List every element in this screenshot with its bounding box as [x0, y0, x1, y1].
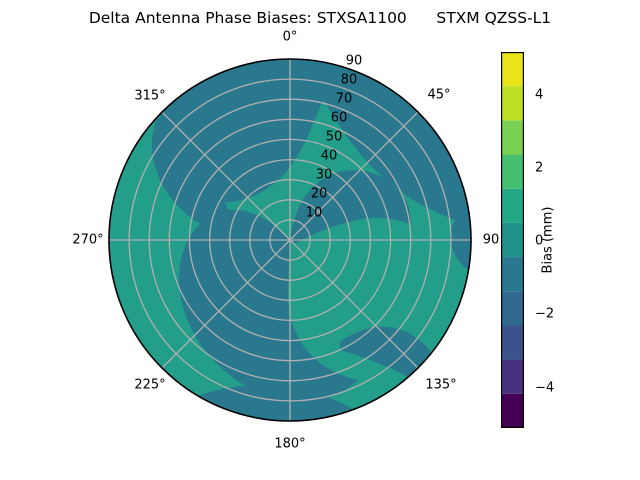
colorbar-band-4 — [501, 257, 524, 291]
colorbar-band-9 — [501, 86, 524, 120]
polar-plot-svg — [108, 58, 472, 422]
colorbar-tick-label-2: 2 — [535, 162, 543, 175]
page-title: Delta Antenna Phase Biases: STXSA1100 ST… — [0, 9, 640, 27]
r-tick-90: 90 — [346, 55, 363, 68]
theta-tick-315: 315° — [134, 90, 165, 103]
colorbar-band-10 — [501, 52, 524, 86]
theta-tick-90: 90 — [483, 234, 500, 247]
polar-chart-figure: Delta Antenna Phase Biases: STXSA1100 ST… — [0, 0, 640, 480]
colorbar-bands — [501, 52, 524, 428]
polar-grid-spokes — [109, 59, 471, 421]
colorbar-axis-label: Bias (mm) — [541, 207, 556, 274]
colorbar-band-5 — [501, 223, 524, 257]
colorbar[interactable] — [501, 52, 524, 428]
colorbar-band-1 — [501, 360, 524, 394]
r-tick-60: 60 — [331, 112, 348, 125]
theta-tick-270: 270° — [72, 234, 103, 247]
theta-tick-0: 0° — [283, 31, 298, 44]
colorbar-band-7 — [501, 155, 524, 189]
r-tick-80: 80 — [341, 74, 358, 87]
r-tick-30: 30 — [316, 169, 333, 182]
colorbar-tick-label-minus2: −2 — [535, 308, 554, 321]
colorbar-band-0 — [501, 394, 524, 428]
colorbar-band-6 — [501, 189, 524, 223]
colorbar-tick-label-4: 4 — [535, 89, 543, 102]
r-tick-20: 20 — [311, 188, 328, 201]
r-tick-10: 10 — [306, 207, 323, 220]
colorbar-svg — [501, 52, 524, 428]
theta-tick-180: 180° — [274, 438, 305, 451]
colorbar-tick-label-minus4: −4 — [535, 382, 554, 395]
theta-tick-135: 135° — [425, 379, 456, 392]
polar-axes[interactable] — [108, 58, 472, 422]
r-tick-40: 40 — [321, 150, 338, 163]
theta-tick-45: 45° — [427, 89, 450, 102]
colorbar-band-2 — [501, 326, 524, 360]
r-tick-70: 70 — [336, 93, 353, 106]
theta-tick-225: 225° — [134, 379, 165, 392]
colorbar-band-8 — [501, 120, 524, 154]
r-tick-50: 50 — [326, 131, 343, 144]
colorbar-band-3 — [501, 291, 524, 325]
